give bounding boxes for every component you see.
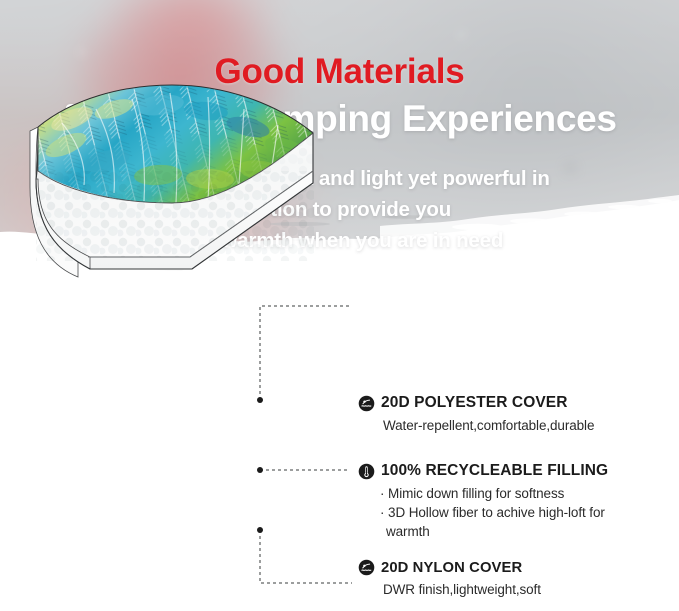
spec-header: 20D POLYESTER COVER [358,394,674,412]
polyester-cover-icon [358,395,375,412]
spec-item-recycleable-filling: 100% RECYCLEABLE FILLING · Mimic down fi… [358,462,674,541]
spec-title: 20D POLYESTER COVER [381,394,568,412]
spec-item-polyester-cover: 20D POLYESTER COVER Water-repellent,comf… [358,394,674,435]
product-cross-section-illustration [10,75,360,285]
spec-description: DWR finish,lightweight,soft [383,581,674,599]
spec-description: Water-repellent,comfortable,durable [383,417,674,435]
thermometer-icon [358,463,375,480]
spec-title: 100% RECYCLEABLE FILLING [381,462,608,480]
spec-item-nylon-cover: 20D NYLON COVER DWR finish,lightweight,s… [358,559,674,599]
spec-header: 20D NYLON COVER [358,559,674,576]
spec-bullet-continuation: warmth [380,522,674,541]
spec-bullet: · Mimic down filling for softness [380,484,674,503]
spec-bullet-list: · Mimic down filling for softness · 3D H… [380,484,674,541]
spec-title: 20D NYLON COVER [381,560,522,576]
nylon-cover-icon [358,559,375,576]
spec-bullet: · 3D Hollow fiber to achive high-loft fo… [380,503,674,522]
product-feature-banner: Good Materials for Better Camping Experi… [0,0,679,611]
spec-header: 100% RECYCLEABLE FILLING [358,462,674,480]
